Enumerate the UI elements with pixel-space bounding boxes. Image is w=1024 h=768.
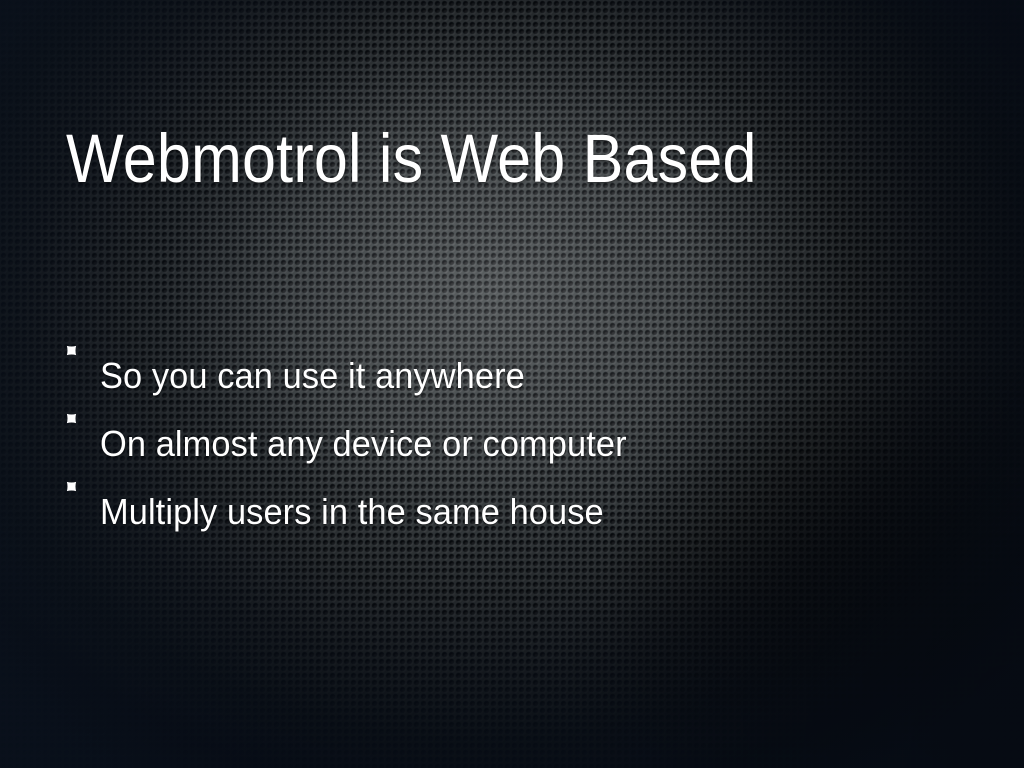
square-bullet-icon	[66, 345, 100, 381]
square-bullet-icon	[66, 413, 100, 449]
bullet-text: On almost any device or computer	[100, 426, 627, 462]
bullet-text: So you can use it anywhere	[100, 358, 525, 394]
slide-bullet-list: So you can use it anywhere On almost any…	[66, 352, 651, 556]
bullet-item: Multiply users in the same house	[66, 488, 651, 556]
presentation-slide: Webmotrol is Web Based So you can use it…	[0, 0, 1024, 768]
slide-content: Webmotrol is Web Based So you can use it…	[0, 0, 1024, 768]
bullet-text: Multiply users in the same house	[100, 494, 604, 530]
bullet-item: On almost any device or computer	[66, 420, 651, 488]
bullet-item: So you can use it anywhere	[66, 352, 651, 420]
slide-title: Webmotrol is Web Based	[66, 124, 757, 193]
square-bullet-icon	[66, 481, 100, 517]
